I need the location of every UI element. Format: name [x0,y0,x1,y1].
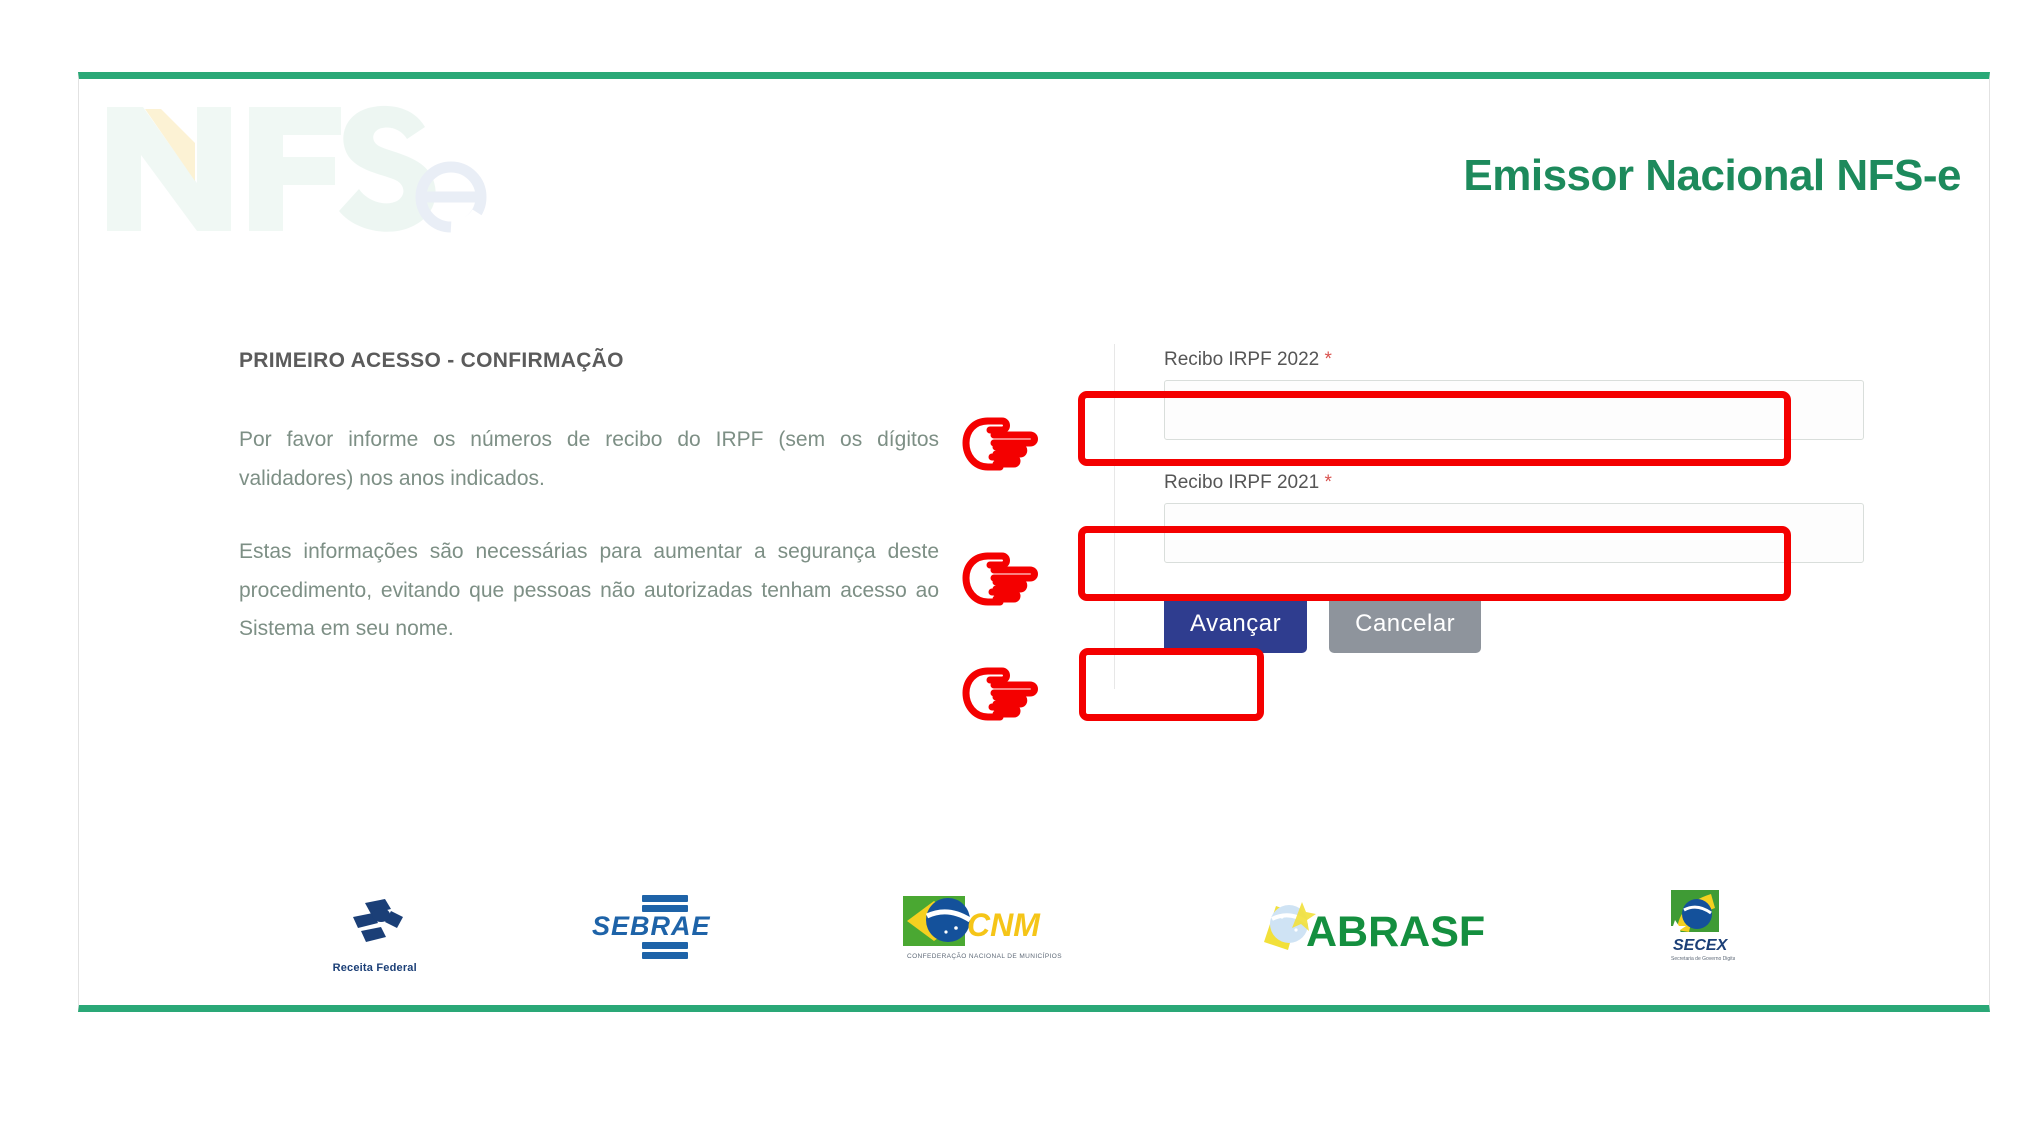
partner-logo-receita-federal: Receita Federal [333,895,417,974]
card-body: PRIMEIRO ACESSO - CONFIRMAÇÃO Por favor … [79,349,1989,699]
page-title: Emissor Nacional NFS-e [1463,151,1961,201]
partner-logos: Receita Federal SEBRAE SEBRAE [79,869,1989,999]
recibo-irpf-2022-input[interactable] [1164,380,1864,440]
nfse-logo-icon [99,89,519,249]
cancelar-button[interactable]: Cancelar [1329,595,1481,653]
recibo-irpf-2021-input[interactable] [1164,503,1864,563]
svg-text:Secretaria de Governo Digital: Secretaria de Governo Digital [1671,956,1735,962]
svg-text:SECEX: SECEX [1673,937,1729,954]
secex-icon: SECEX Secretaria de Governo Digital [1655,888,1735,966]
cnm-icon: CNM CONFEDERAÇÃO NACIONAL DE MUNICÍPIOS [901,890,1091,964]
screenshot-root: Emissor Nacional NFS-e PRIMEIRO ACESSO -… [0,0,2017,1137]
receita-federal-icon [335,895,415,959]
svg-text:SEBRAE: SEBRAE [592,911,711,941]
svg-text:ABRASF: ABRASF [1306,908,1485,956]
info-panel: PRIMEIRO ACESSO - CONFIRMAÇÃO Por favor … [239,349,939,649]
partner-logo-sebrae: SEBRAE SEBRAE [584,891,734,978]
section-heading: PRIMEIRO ACESSO - CONFIRMAÇÃO [239,349,939,373]
sebrae-icon: SEBRAE [584,891,734,963]
svg-text:CONFEDERAÇÃO NACIONAL DE MUNIC: CONFEDERAÇÃO NACIONAL DE MUNICÍPIOS [907,951,1062,960]
field-group-recibo-2022: Recibo IRPF 2022 * [1164,349,1864,440]
info-paragraph-1: Por favor informe os números de recibo d… [239,421,939,499]
required-asterisk: * [1325,349,1332,370]
info-paragraph-2: Estas informações são necessárias para a… [239,533,939,650]
confirmation-form: Recibo IRPF 2022 * Recibo IRPF 2021 * Av… [1164,349,1864,653]
form-actions: Avançar Cancelar [1164,595,1864,653]
partner-logo-abrasf: ABRASF ABRASF [1258,892,1488,977]
partner-logo-cnm: CNM CONFEDERAÇÃO NACIONAL DE MUNICÍPIOS … [901,890,1091,979]
avancar-button[interactable]: Avançar [1164,595,1307,653]
required-asterisk: * [1325,472,1332,493]
recibo-irpf-2021-label: Recibo IRPF 2021 * [1164,472,1864,494]
column-divider [1114,344,1115,689]
recibo-irpf-2022-label-text: Recibo IRPF 2022 [1164,349,1319,370]
partner-logo-secex: SECEX Secretaria de Governo Digital SECE… [1655,888,1735,981]
login-card: Emissor Nacional NFS-e PRIMEIRO ACESSO -… [78,72,1990,1012]
recibo-irpf-2022-label: Recibo IRPF 2022 * [1164,349,1864,371]
svg-text:CNM: CNM [967,907,1041,943]
field-group-recibo-2021: Recibo IRPF 2021 * [1164,472,1864,563]
partner-caption: Receita Federal [333,962,417,974]
recibo-irpf-2021-label-text: Recibo IRPF 2021 [1164,472,1319,493]
abrasf-icon: ABRASF [1258,892,1488,962]
